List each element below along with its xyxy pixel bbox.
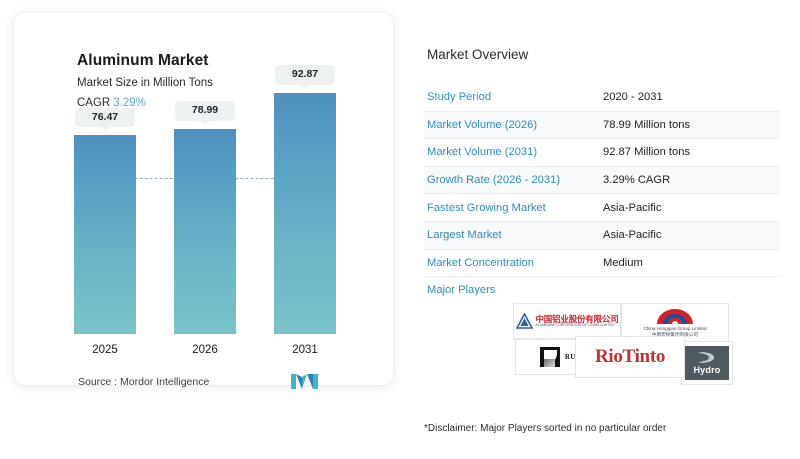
- bar[interactable]: [274, 93, 336, 334]
- major-players-row: Major Players: [424, 277, 780, 303]
- table-row: Study Period2020 - 2031: [424, 84, 780, 112]
- riotinto-logo: RioTinto: [575, 336, 685, 378]
- hydro-logo: Hydro: [681, 341, 733, 385]
- market-overview-table: Study Period2020 - 2031Market Volume (20…: [424, 84, 780, 303]
- bar-category-label: 2031: [274, 344, 336, 356]
- bar-chart-plot: 202576.47202678.99203192.87: [14, 13, 393, 385]
- table-row-key: Study Period: [424, 91, 603, 103]
- table-row-key: Market Concentration: [424, 257, 603, 269]
- bar-group: 2025: [74, 135, 136, 334]
- bar[interactable]: [174, 129, 236, 334]
- table-row-key: Market Volume (2026): [424, 119, 603, 131]
- table-row-value: 3.29% CAGR: [603, 174, 670, 186]
- hydro-swoosh-icon: [696, 351, 718, 364]
- table-row-value: 78.99 Million tons: [603, 119, 690, 131]
- table-row-value: Asia-Pacific: [603, 229, 661, 241]
- table-row-key: Growth Rate (2026 - 2031): [424, 174, 603, 186]
- bar-value-badge: 78.99: [175, 101, 235, 121]
- riotinto-text: RioTinto: [595, 346, 665, 368]
- disclaimer-text: *Disclaimer: Major Players sorted in no …: [424, 423, 666, 434]
- table-row: Market Volume (2031)92.87 Million tons: [424, 139, 780, 167]
- table-row: Largest MarketAsia-Pacific: [424, 222, 780, 250]
- bar-category-label: 2025: [74, 344, 136, 356]
- chart-card: Aluminum Market Market Size in Million T…: [14, 13, 393, 385]
- market-overview-title: Market Overview: [427, 47, 528, 62]
- hongqiao-en-text: China Hongqiao Group Limited: [643, 326, 706, 331]
- hydro-text: Hydro: [693, 365, 720, 375]
- bar-value-badge: 92.87: [275, 65, 335, 85]
- rusal-mark-icon: [540, 347, 560, 367]
- bar-category-label: 2026: [174, 344, 236, 356]
- table-row-key: Market Volume (2031): [424, 146, 603, 158]
- table-row: Market Volume (2026)78.99 Million tons: [424, 112, 780, 140]
- table-row-value: 2020 - 2031: [603, 91, 663, 103]
- bar-value-badge: 76.47: [75, 108, 135, 128]
- major-players-label: Major Players: [424, 284, 603, 296]
- hongqiao-arch-icon: [653, 308, 697, 325]
- bar[interactable]: [74, 135, 136, 334]
- table-row-value: Asia-Pacific: [603, 202, 661, 214]
- table-row-key: Fastest Growing Market: [424, 202, 603, 214]
- table-row-key: Largest Market: [424, 229, 603, 241]
- table-row: Fastest Growing MarketAsia-Pacific: [424, 194, 780, 222]
- chalco-logo: 中国铝业股份有限公司 ALUMINUM CORPORATION OF CHINA…: [513, 303, 621, 339]
- mordor-intelligence-logo: [291, 373, 319, 389]
- table-row-value: Medium: [603, 257, 643, 269]
- chalco-en-text: ALUMINUM CORPORATION OF CHINA LIMITED: [536, 324, 619, 328]
- major-players-logos: 中国铝业股份有限公司 ALUMINUM CORPORATION OF CHINA…: [513, 303, 736, 388]
- table-row-value: 92.87 Million tons: [603, 146, 690, 158]
- source-label: Source : Mordor Intelligence: [78, 376, 209, 388]
- bar-group: 2031: [274, 93, 336, 334]
- table-row: Market ConcentrationMedium: [424, 250, 780, 278]
- table-row: Growth Rate (2026 - 2031)3.29% CAGR: [424, 167, 780, 195]
- chalco-mark-icon: [516, 313, 533, 330]
- bar-group: 2026: [174, 129, 236, 334]
- screenshot-root: Aluminum Market Market Size in Million T…: [0, 0, 800, 459]
